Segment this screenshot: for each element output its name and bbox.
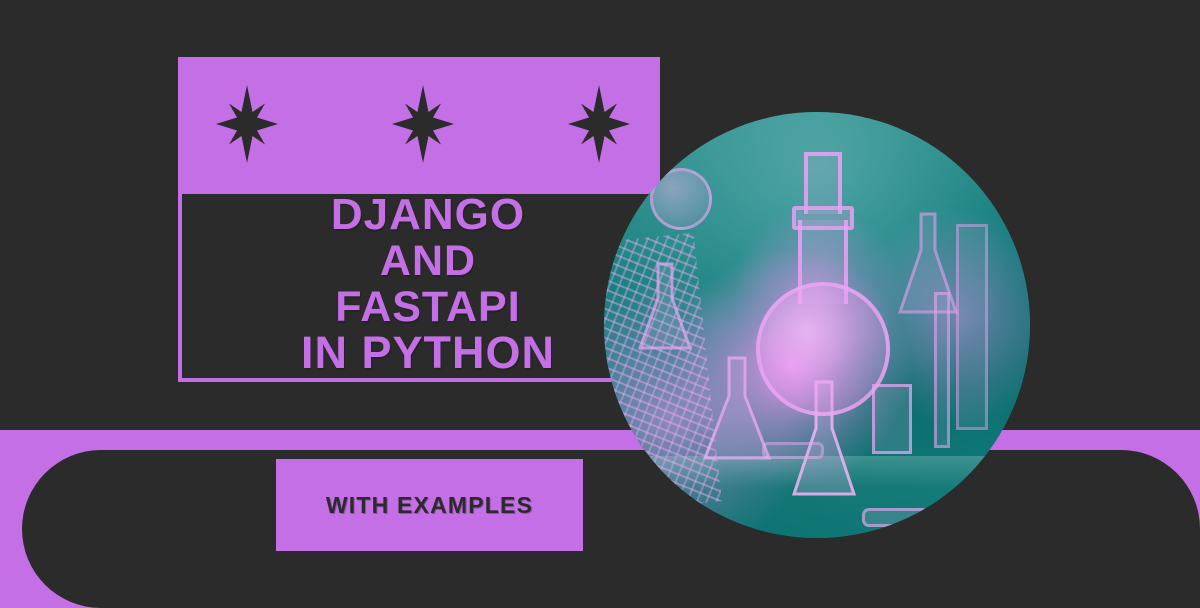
star-header-block [178, 57, 660, 190]
erlenmeyer-flask-icon [632, 262, 698, 354]
sparkle-star-icon [216, 85, 278, 163]
round-bulb-icon [650, 168, 712, 230]
erlenmeyer-flask-icon [892, 212, 964, 318]
sparkle-star-icon [392, 85, 454, 163]
title-frame [178, 190, 660, 382]
subtitle-label: WITH EXAMPLES [326, 492, 533, 519]
glass-rod-icon [934, 292, 950, 448]
test-tube-icon [862, 508, 930, 527]
erlenmeyer-flask-icon [696, 356, 778, 464]
bench-surface [604, 456, 1030, 538]
banner-canvas: DJANGO AND FASTAPI IN PYTHON [0, 0, 1200, 608]
stars-row [178, 57, 660, 190]
round-bottom-flask-icon [754, 152, 882, 452]
wire-mesh-icon [604, 233, 722, 514]
subtitle-chip: WITH EXAMPLES [276, 459, 583, 551]
test-tube-icon [762, 442, 824, 459]
beaker-icon [872, 384, 912, 454]
lab-glassware-photo [604, 112, 1030, 538]
glass-rod-icon [956, 224, 988, 430]
volumetric-flask-icon [786, 380, 862, 500]
photo-duotone-layer [604, 112, 1030, 538]
